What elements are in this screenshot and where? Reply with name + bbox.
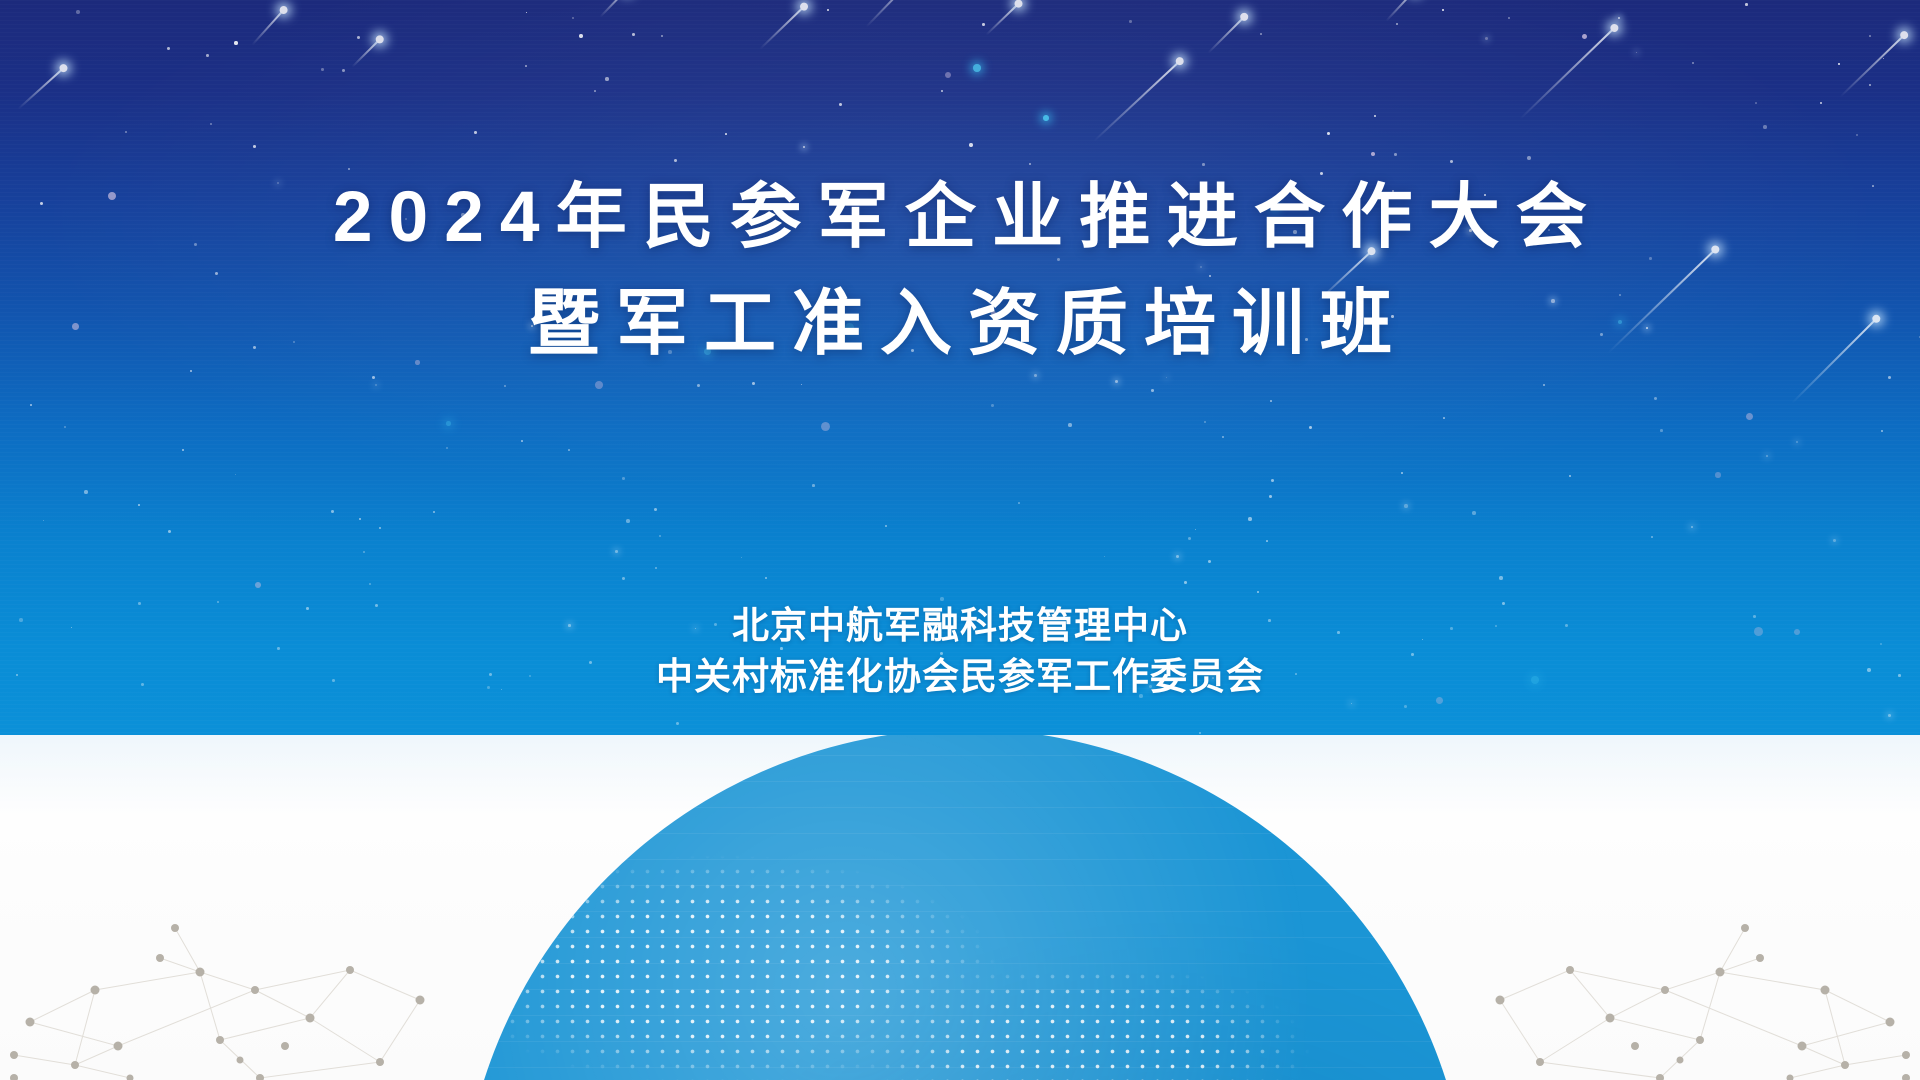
star-icon bbox=[1442, 9, 1444, 11]
star-icon bbox=[973, 64, 981, 72]
star-icon bbox=[1327, 132, 1330, 135]
shooting-star-icon bbox=[17, 67, 64, 110]
star-icon bbox=[1691, 526, 1693, 528]
star-icon bbox=[363, 551, 365, 553]
star-icon bbox=[752, 382, 755, 385]
star-icon bbox=[1499, 576, 1503, 580]
star-icon bbox=[676, 722, 679, 725]
star-icon bbox=[594, 90, 596, 92]
star-icon bbox=[1450, 160, 1453, 163]
shooting-star-icon bbox=[351, 38, 380, 67]
star-icon bbox=[1660, 429, 1663, 432]
star-icon bbox=[622, 477, 625, 480]
star-icon bbox=[803, 146, 805, 148]
star-icon bbox=[991, 404, 994, 407]
star-icon bbox=[1257, 591, 1259, 593]
star-icon bbox=[1204, 421, 1206, 423]
star-icon bbox=[1766, 455, 1768, 457]
star-icon bbox=[1200, 266, 1202, 268]
star-icon bbox=[885, 525, 887, 527]
star-icon bbox=[474, 131, 477, 134]
star-icon bbox=[1104, 556, 1105, 557]
star-icon bbox=[1043, 115, 1049, 121]
shooting-star-icon bbox=[1839, 34, 1905, 98]
star-icon bbox=[765, 577, 767, 579]
star-icon bbox=[504, 385, 506, 387]
star-icon bbox=[357, 36, 360, 39]
star-icon bbox=[1888, 376, 1891, 379]
star-icon bbox=[190, 370, 192, 372]
star-icon bbox=[1543, 384, 1545, 386]
shooting-star-icon bbox=[251, 9, 284, 46]
star-icon bbox=[1404, 705, 1407, 708]
star-icon bbox=[1374, 115, 1376, 117]
star-icon bbox=[342, 69, 345, 72]
star-icon bbox=[1715, 472, 1721, 478]
star-icon bbox=[125, 131, 127, 133]
star-icon bbox=[255, 582, 261, 588]
star-icon bbox=[1618, 17, 1620, 19]
shooting-star-icon bbox=[865, 0, 915, 27]
star-icon bbox=[595, 381, 603, 389]
star-icon bbox=[1018, 502, 1020, 504]
star-icon bbox=[821, 422, 830, 431]
star-icon bbox=[605, 77, 609, 81]
star-icon bbox=[982, 23, 985, 26]
organizer-block: 北京中航军融科技管理中心 中关村标准化协会民参军工作委员会 bbox=[0, 600, 1920, 702]
star-icon bbox=[1401, 472, 1403, 474]
star-icon bbox=[1746, 413, 1753, 420]
globe-graphic bbox=[460, 735, 1470, 1080]
star-icon bbox=[1394, 153, 1397, 156]
star-icon bbox=[1888, 714, 1891, 717]
star-icon bbox=[674, 159, 677, 162]
star-icon bbox=[206, 54, 209, 57]
star-icon bbox=[801, 384, 802, 385]
star-icon bbox=[1271, 479, 1274, 482]
star-icon bbox=[1763, 125, 1767, 129]
star-icon bbox=[1692, 62, 1694, 64]
star-icon bbox=[331, 510, 334, 513]
star-icon bbox=[969, 143, 973, 147]
star-icon bbox=[1129, 20, 1132, 23]
star-icon bbox=[168, 530, 171, 533]
star-icon bbox=[725, 133, 727, 135]
star-icon bbox=[1184, 581, 1187, 584]
shooting-star-icon bbox=[985, 2, 1019, 35]
star-icon bbox=[1443, 417, 1445, 419]
star-icon bbox=[1057, 258, 1060, 261]
star-icon bbox=[521, 440, 523, 442]
star-icon bbox=[659, 535, 661, 537]
star-icon bbox=[1883, 58, 1884, 59]
banner-sky-background: 2024年民参军企业推进合作大会 暨军工准入资质培训班 北京中航军融科技管理中心… bbox=[0, 0, 1920, 735]
star-icon bbox=[812, 484, 815, 487]
bottom-section bbox=[0, 735, 1920, 1080]
star-icon bbox=[167, 47, 170, 50]
star-icon bbox=[1838, 63, 1840, 65]
star-icon bbox=[1209, 275, 1211, 277]
star-icon bbox=[1151, 389, 1154, 392]
star-icon bbox=[1472, 511, 1476, 515]
star-icon bbox=[654, 508, 657, 511]
star-icon bbox=[1309, 426, 1312, 429]
star-icon bbox=[1222, 436, 1224, 438]
star-icon bbox=[1199, 732, 1201, 734]
star-icon bbox=[626, 519, 630, 523]
star-icon bbox=[1654, 397, 1657, 400]
network-icon bbox=[0, 850, 470, 1080]
star-icon bbox=[1208, 560, 1211, 563]
star-icon bbox=[1649, 257, 1652, 260]
star-icon bbox=[210, 123, 212, 125]
title-line-1: 2024年民参军企业推进合作大会 bbox=[0, 182, 1920, 253]
star-icon bbox=[661, 35, 663, 37]
star-icon bbox=[1248, 517, 1252, 521]
star-icon bbox=[1115, 380, 1118, 383]
star-icon bbox=[1569, 475, 1571, 477]
shooting-star-icon bbox=[1207, 15, 1245, 53]
star-icon bbox=[827, 9, 829, 11]
star-icon bbox=[1869, 84, 1871, 86]
star-icon bbox=[234, 41, 238, 45]
star-icon bbox=[84, 490, 88, 494]
star-icon bbox=[1320, 172, 1323, 175]
star-icon bbox=[138, 504, 140, 506]
network-dots-right bbox=[1450, 850, 1920, 1080]
star-icon bbox=[379, 527, 381, 529]
shooting-star-icon bbox=[599, 0, 628, 17]
star-icon bbox=[1796, 441, 1798, 443]
globe-shading bbox=[460, 735, 1470, 1080]
star-icon bbox=[359, 518, 361, 520]
star-icon bbox=[1582, 34, 1587, 39]
star-icon bbox=[572, 17, 574, 19]
star-icon bbox=[433, 511, 435, 513]
star-icon bbox=[235, 474, 236, 475]
star-icon bbox=[1269, 495, 1272, 498]
star-icon bbox=[1202, 163, 1205, 166]
star-icon bbox=[579, 34, 583, 38]
star-icon bbox=[741, 557, 742, 558]
star-icon bbox=[1195, 529, 1196, 530]
star-icon bbox=[622, 577, 625, 580]
star-icon bbox=[446, 447, 448, 449]
star-icon bbox=[415, 360, 420, 365]
star-icon bbox=[1351, 703, 1352, 704]
star-icon bbox=[1404, 504, 1408, 508]
star-icon bbox=[64, 426, 66, 428]
network-icon bbox=[1450, 850, 1920, 1080]
star-icon bbox=[1371, 152, 1375, 156]
star-icon bbox=[1833, 539, 1836, 542]
star-icon bbox=[526, 12, 527, 13]
star-icon bbox=[43, 520, 44, 521]
star-icon bbox=[1166, 377, 1167, 378]
shooting-star-icon bbox=[1385, 0, 1416, 21]
star-icon bbox=[1176, 555, 1179, 558]
network-dots-left bbox=[0, 850, 470, 1080]
star-icon bbox=[1869, 35, 1871, 37]
star-icon bbox=[372, 376, 375, 379]
star-icon bbox=[1856, 134, 1858, 136]
star-icon bbox=[697, 384, 700, 387]
organizer-line-1: 北京中航军融科技管理中心 bbox=[0, 600, 1920, 651]
star-icon bbox=[1188, 537, 1191, 540]
organizer-line-2: 中关村标准化协会民参军工作委员会 bbox=[0, 651, 1920, 702]
star-icon bbox=[1068, 423, 1072, 427]
star-icon bbox=[1527, 156, 1531, 160]
star-icon bbox=[1651, 536, 1653, 538]
star-icon bbox=[1029, 163, 1031, 165]
star-icon bbox=[1396, 23, 1398, 25]
star-icon bbox=[568, 449, 570, 451]
star-icon bbox=[1508, 17, 1510, 19]
star-icon bbox=[348, 168, 350, 170]
shooting-star-icon bbox=[1093, 60, 1180, 142]
star-icon bbox=[76, 10, 80, 14]
star-icon bbox=[1881, 430, 1883, 432]
star-icon bbox=[215, 272, 218, 275]
conference-poster: 2024年民参军企业推进合作大会 暨军工准入资质培训班 北京中航军融科技管理中心… bbox=[0, 0, 1920, 1080]
star-icon bbox=[525, 65, 527, 67]
title-line-2: 暨军工准入资质培训班 bbox=[0, 288, 1920, 360]
shooting-star-icon bbox=[1519, 27, 1615, 120]
star-icon bbox=[615, 550, 618, 553]
star-icon bbox=[1820, 102, 1822, 104]
star-icon bbox=[632, 33, 635, 36]
star-icon bbox=[1485, 37, 1488, 40]
star-icon bbox=[1755, 102, 1757, 104]
shooting-star-icon bbox=[759, 5, 805, 49]
star-icon bbox=[253, 145, 256, 148]
star-icon bbox=[369, 583, 371, 585]
globe-sphere bbox=[460, 735, 1470, 1080]
star-icon bbox=[941, 90, 943, 92]
star-icon bbox=[182, 449, 184, 451]
star-icon bbox=[321, 68, 324, 71]
star-icon bbox=[1034, 374, 1037, 377]
star-icon bbox=[655, 567, 657, 569]
star-icon bbox=[1260, 33, 1262, 35]
star-icon bbox=[945, 72, 951, 78]
star-icon bbox=[1745, 3, 1748, 6]
star-icon bbox=[375, 384, 377, 386]
star-icon bbox=[446, 421, 451, 426]
star-icon bbox=[1270, 400, 1272, 402]
star-icon bbox=[839, 103, 842, 106]
star-icon bbox=[30, 404, 32, 406]
star-icon bbox=[1266, 540, 1268, 542]
star-icon bbox=[1636, 52, 1637, 53]
